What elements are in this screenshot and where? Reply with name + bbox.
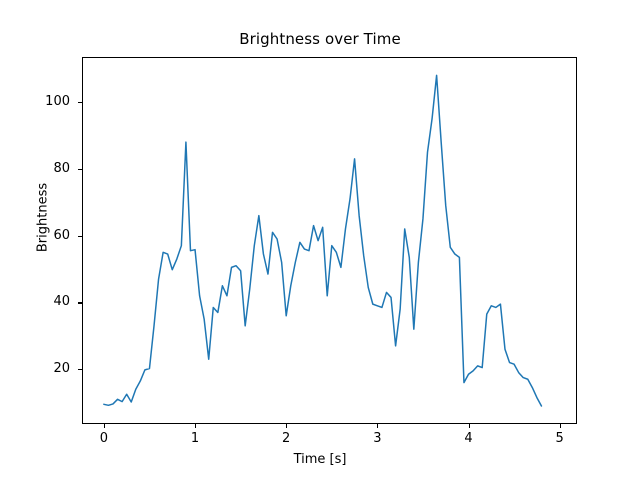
x-tick-label: 2 (266, 431, 306, 446)
y-axis-label: Brightness (36, 158, 51, 278)
x-tick-label: 1 (175, 431, 215, 446)
series-polyline (104, 75, 542, 406)
x-axis-label: Time [s] (0, 452, 640, 467)
x-tick-mark (195, 424, 196, 428)
x-tick-label: 4 (449, 431, 489, 446)
y-tick-label: 100 (10, 94, 70, 109)
y-tick-label: 20 (10, 361, 70, 376)
y-tick-mark (78, 236, 82, 237)
y-tick-mark (78, 102, 82, 103)
x-tick-mark (377, 424, 378, 428)
y-tick-mark (78, 169, 82, 170)
x-tick-label: 5 (540, 431, 580, 446)
x-tick-label: 3 (357, 431, 397, 446)
x-tick-mark (560, 424, 561, 428)
x-tick-mark (104, 424, 105, 428)
line-series-brightness (82, 57, 577, 424)
y-tick-mark (78, 369, 82, 370)
chart-title: Brightness over Time (0, 30, 640, 48)
y-tick-mark (78, 302, 82, 303)
x-tick-label: 0 (84, 431, 124, 446)
x-tick-mark (469, 424, 470, 428)
y-tick-label: 40 (10, 294, 70, 309)
x-tick-mark (286, 424, 287, 428)
matplotlib-figure: Brightness over Time 20406080100 012345 … (0, 0, 640, 480)
